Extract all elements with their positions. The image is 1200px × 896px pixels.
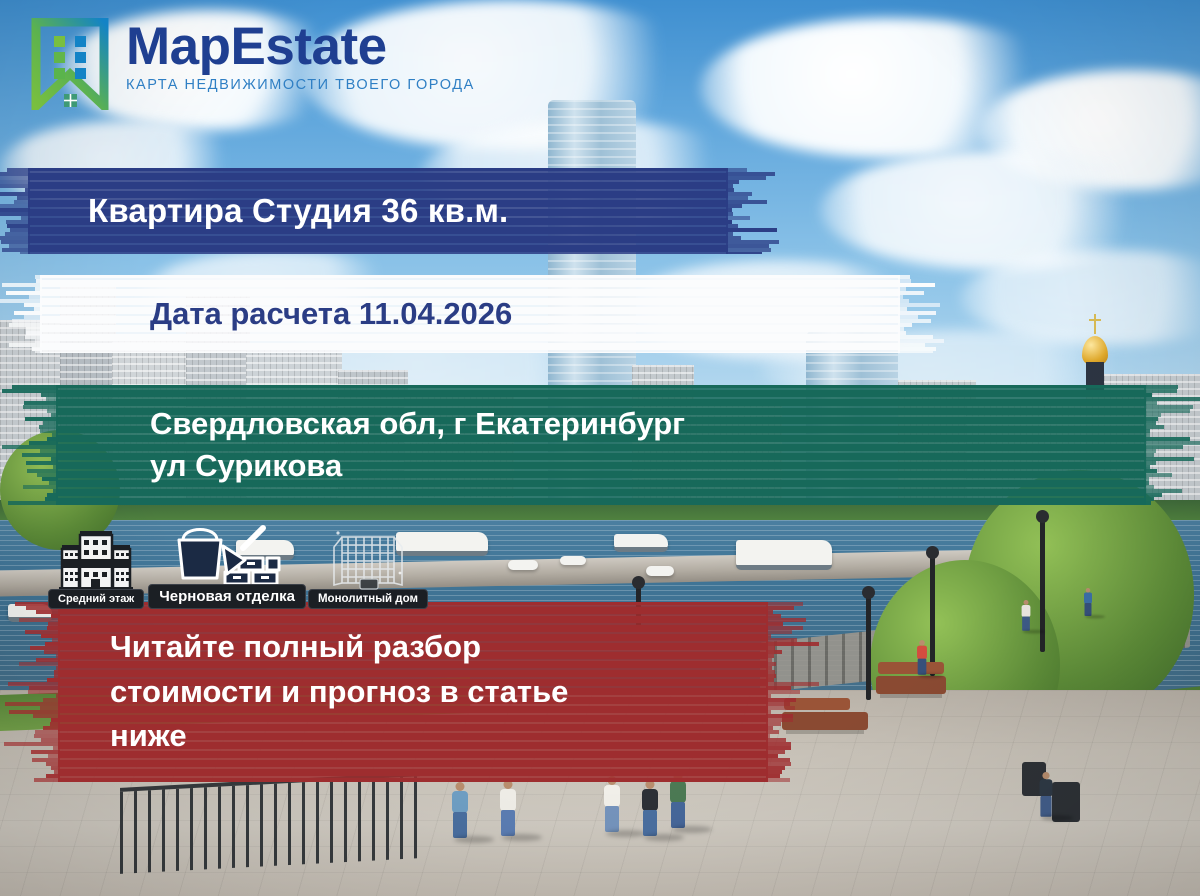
fence (120, 772, 420, 874)
brush-fringe-right (766, 602, 826, 782)
brush-fringe-right (726, 168, 786, 254)
address-banner-text: Свердловская обл, г Екатеринбург ул Сури… (56, 403, 1146, 487)
date-banner: Дата расчета 11.04.2026 (40, 275, 900, 353)
badge-finish-label: Черновая отделка (148, 584, 306, 609)
cta-line-2: стоимости и прогноз в статье (110, 670, 768, 715)
cta-line-3: ниже (110, 714, 768, 759)
brush-fringe-left (0, 385, 58, 505)
brand-wordmark: MapEstate (126, 22, 475, 73)
apartment-banner-text: Квартира Студия 36 кв.м. (28, 192, 728, 230)
badge-floor-label: Средний этаж (48, 589, 144, 609)
cta-banner-text: Читайте полный разбор стоимости и прогно… (58, 625, 768, 760)
badge-finish: Черновая отделка (148, 518, 306, 609)
badge-floor: Средний этаж (48, 529, 144, 609)
bookmark-building-icon (30, 18, 110, 110)
promo-poster: Квартира Студия 36 кв.м. Дата расчета 11… (0, 0, 1200, 896)
address-line-1: Свердловская обл, г Екатеринбург (150, 403, 1146, 445)
address-line-2: ул Сурикова (150, 445, 1146, 487)
boat (646, 566, 674, 576)
street-lamp (866, 596, 871, 700)
feature-badges: Средний этаж (48, 518, 428, 609)
boat (614, 534, 668, 548)
street-lamp (930, 556, 935, 676)
paint-bucket-trowel-bricks-icon (171, 518, 283, 588)
brush-fringe-right (898, 275, 958, 353)
boat (736, 540, 832, 566)
boat (508, 560, 538, 570)
brand-logo[interactable]: MapEstate КАРТА НЕДВИЖИМОСТИ ТВОЕГО ГОРО… (30, 18, 475, 110)
cta-banner: Читайте полный разбор стоимости и прогно… (58, 602, 768, 782)
brand-logo-text: MapEstate КАРТА НЕДВИЖИМОСТИ ТВОЕГО ГОРО… (126, 18, 475, 93)
brush-fringe-left (0, 602, 60, 782)
boat (560, 556, 586, 565)
rebar-scaffolding-icon (326, 529, 410, 593)
brush-fringe-left (0, 168, 30, 254)
brush-fringe-right (1144, 385, 1200, 505)
apartment-banner: Квартира Студия 36 кв.м. (28, 168, 728, 254)
date-banner-text: Дата расчета 11.04.2026 (40, 296, 900, 332)
cta-line-1: Читайте полный разбор (110, 625, 768, 670)
badge-material: Монолитный дом (308, 529, 428, 609)
brand-tagline: КАРТА НЕДВИЖИМОСТИ ТВОЕГО ГОРОДА (126, 77, 475, 93)
address-banner: Свердловская обл, г Екатеринбург ул Сури… (56, 385, 1146, 505)
brush-fringe-left (0, 275, 42, 353)
bench (876, 676, 946, 694)
apartment-building-icon (59, 529, 133, 593)
